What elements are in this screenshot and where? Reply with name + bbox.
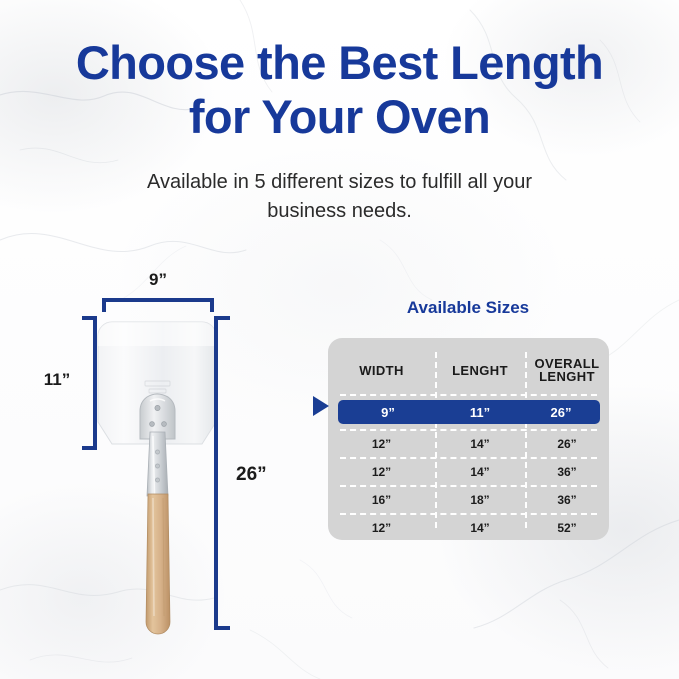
table-row[interactable]: 12” 14” 52” xyxy=(328,515,609,541)
cell-width: 9” xyxy=(338,406,438,419)
cell-overall: 52” xyxy=(525,522,609,535)
row-divider-0 xyxy=(340,394,597,396)
overall-dimension-bracket xyxy=(214,316,230,630)
cell-width: 16” xyxy=(328,494,435,507)
cell-length: 18” xyxy=(435,494,525,507)
cell-overall: 36” xyxy=(525,466,609,479)
header-cell-length: LENGHT xyxy=(435,364,525,377)
cell-width: 12” xyxy=(328,522,435,535)
sizes-table: WIDTH LENGHT OVERALL LENGHT 9” 11” 26” 1… xyxy=(328,338,609,540)
header-cell-width: WIDTH xyxy=(328,364,435,377)
sizes-table-heading: Available Sizes xyxy=(328,298,608,318)
cell-length: 14” xyxy=(435,466,525,479)
cell-width: 12” xyxy=(328,466,435,479)
table-header-row: WIDTH LENGHT OVERALL LENGHT xyxy=(328,350,609,390)
cell-length: 14” xyxy=(435,438,525,451)
arrow-right-icon xyxy=(313,396,329,416)
cell-overall: 36” xyxy=(525,494,609,507)
overall-dimension-label: 26” xyxy=(236,464,292,486)
height-dimension-label: 11” xyxy=(34,370,80,390)
pizza-peel-icon xyxy=(0,0,320,679)
table-row-highlighted[interactable]: 9” 11” 26” xyxy=(338,400,600,424)
infographic-root: Choose the Best Length for Your Oven Ava… xyxy=(0,0,679,679)
table-row[interactable]: 12” 14” 26” xyxy=(328,431,609,457)
height-dimension-bracket xyxy=(82,316,97,450)
cell-length: 14” xyxy=(435,522,525,535)
width-dimension-label: 9” xyxy=(102,270,214,290)
header-cell-overall: OVERALL LENGHT xyxy=(525,357,609,383)
table-row[interactable]: 12” 14” 36” xyxy=(328,459,609,485)
cell-overall: 26” xyxy=(525,438,609,451)
cell-width: 12” xyxy=(328,438,435,451)
cell-overall: 26” xyxy=(522,406,600,419)
table-row[interactable]: 16” 18” 36” xyxy=(328,487,609,513)
cell-length: 11” xyxy=(438,406,522,419)
header-cell-overall-line2: LENGHT xyxy=(525,370,609,383)
width-dimension-bracket xyxy=(102,298,214,312)
